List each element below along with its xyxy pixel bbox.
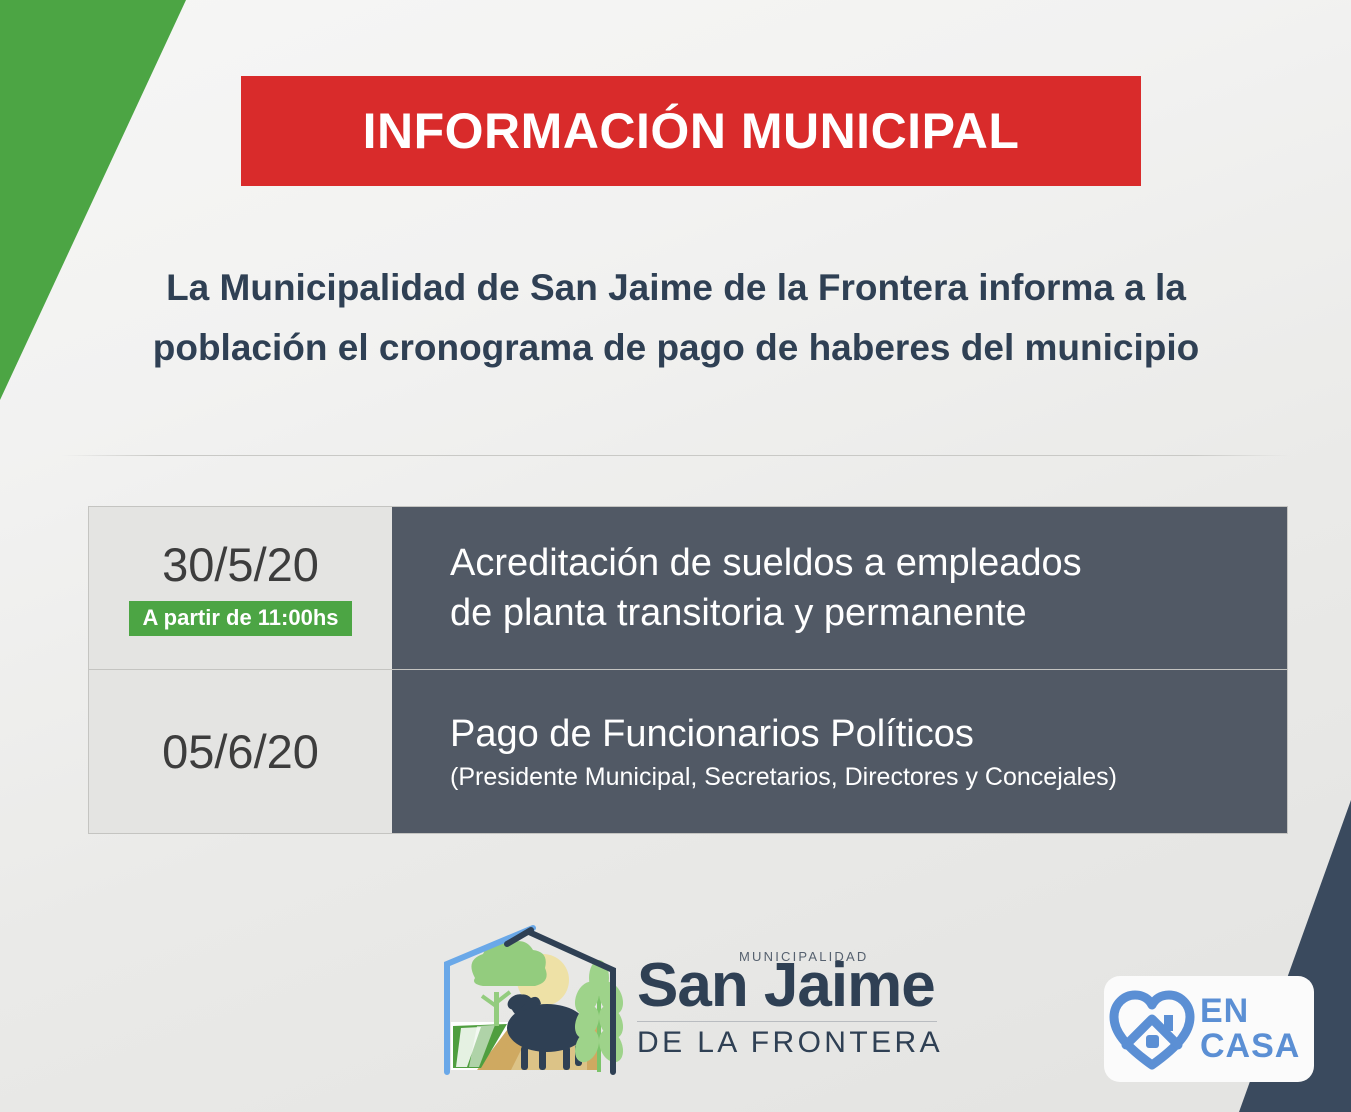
schedule-time-badge: A partir de 11:00hs (129, 601, 351, 636)
schedule-description-line-1: Pago de Funcionarios Políticos (450, 709, 1287, 759)
intro-paragraph: La Municipalidad de San Jaime de la Fron… (62, 258, 1290, 378)
schedule-date: 30/5/20 (162, 540, 319, 589)
logo-name: San Jaime (637, 953, 943, 1020)
schedule-description-line-1: Acreditación de sueldos a empleados (450, 538, 1287, 588)
intro-line-1: La Municipalidad de San Jaime de la Fron… (62, 258, 1290, 318)
poster-canvas: INFORMACIÓN MUNICIPAL La Municipalidad d… (0, 0, 1351, 1112)
heart-house-icon (1106, 985, 1198, 1073)
banner-title: INFORMACIÓN MUNICIPAL (363, 106, 1020, 156)
en-casa-line-2: CASA (1200, 1029, 1300, 1064)
logo-subtitle: DE LA FRONTERA (637, 1026, 943, 1059)
schedule-description: Acreditación de sueldos a empleados de p… (450, 538, 1287, 638)
header-banner: INFORMACIÓN MUNICIPAL (241, 76, 1141, 186)
payment-schedule-table: 30/5/20 A partir de 11:00hs Acreditación… (88, 506, 1288, 834)
intro-line-2: población el cronograma de pago de haber… (62, 318, 1290, 378)
table-row: 05/6/20 Pago de Funcionarios Políticos (… (89, 669, 1287, 833)
logo-wordmark: MUNICIPALIDAD San Jaime DE LA FRONTERA (637, 950, 943, 1060)
house-farm-emblem-icon (437, 922, 627, 1087)
schedule-description: Pago de Funcionarios Políticos (450, 709, 1287, 759)
table-row: 30/5/20 A partir de 11:00hs Acreditación… (89, 507, 1287, 669)
en-casa-line-1: EN (1200, 994, 1300, 1029)
schedule-date-cell: 05/6/20 (89, 670, 392, 833)
schedule-description-cell: Acreditación de sueldos a empleados de p… (392, 507, 1287, 669)
schedule-date: 05/6/20 (162, 727, 319, 776)
logo-rule (637, 1021, 937, 1022)
schedule-description-subtitle: (Presidente Municipal, Secretarios, Dire… (450, 761, 1287, 794)
schedule-description-line-2: de planta transitoria y permanente (450, 588, 1287, 638)
en-casa-badge: EN CASA (1104, 976, 1314, 1082)
section-divider (62, 455, 1290, 456)
en-casa-label: EN CASA (1200, 994, 1300, 1063)
schedule-description-cell: Pago de Funcionarios Políticos (Presiden… (392, 670, 1287, 833)
municipal-logo: MUNICIPALIDAD San Jaime DE LA FRONTERA (437, 922, 943, 1087)
schedule-date-cell: 30/5/20 A partir de 11:00hs (89, 507, 392, 669)
